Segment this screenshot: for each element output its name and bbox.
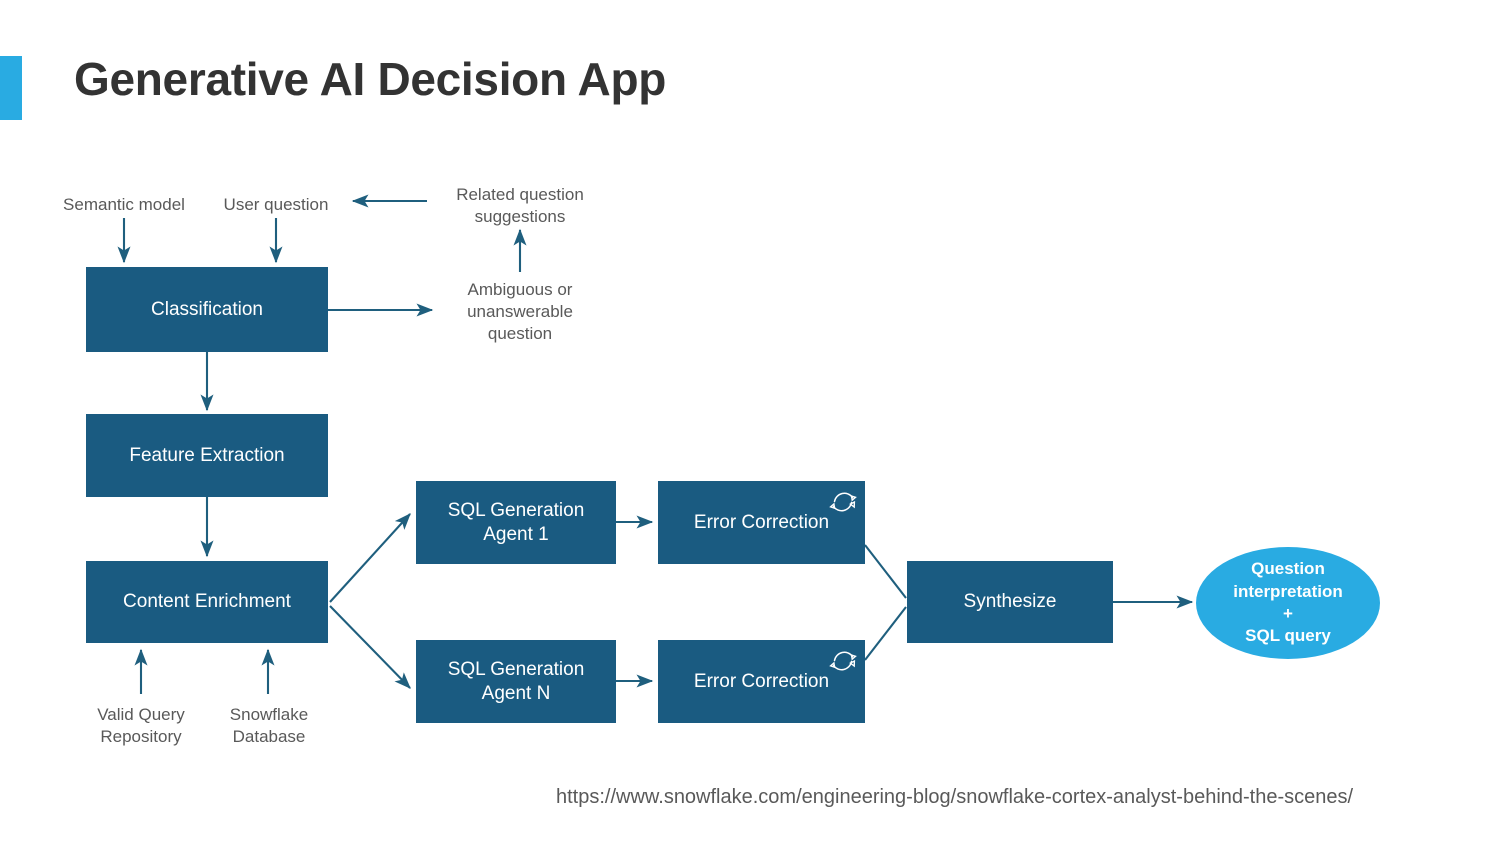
node-error-correction-2[interactable]: Error Correction [658, 640, 865, 723]
node-error-correction-2-label: Error Correction [694, 670, 829, 694]
node-classification-label: Classification [151, 298, 263, 322]
node-error-correction-1[interactable]: Error Correction [658, 481, 865, 564]
node-content-enrichment[interactable]: Content Enrichment [86, 561, 328, 643]
node-output-result-label: Question interpretation + SQL query [1233, 558, 1343, 648]
node-classification[interactable]: Classification [86, 267, 328, 352]
node-content-enrichment-label: Content Enrichment [123, 590, 291, 614]
node-feature-extraction-label: Feature Extraction [129, 444, 284, 468]
node-output-result[interactable]: Question interpretation + SQL query [1196, 547, 1380, 659]
annotation-ambiguous-question: Ambiguous or unanswerable question [448, 279, 592, 345]
annotation-snowflake-database: Snowflake Database [200, 704, 338, 748]
node-synthesize[interactable]: Synthesize [907, 561, 1113, 643]
node-error-correction-1-label: Error Correction [694, 511, 829, 535]
annotation-semantic-model: Semantic model [54, 194, 194, 216]
node-sql-generation-agent-1-label: SQL Generation Agent 1 [448, 499, 585, 547]
node-feature-extraction[interactable]: Feature Extraction [86, 414, 328, 497]
node-sql-generation-agent-n[interactable]: SQL Generation Agent N [416, 640, 616, 723]
annotation-user-question: User question [208, 194, 344, 216]
source-url[interactable]: https://www.snowflake.com/engineering-bl… [556, 786, 1353, 809]
refresh-loop-icon [825, 485, 861, 519]
node-sql-generation-agent-n-label: SQL Generation Agent N [448, 658, 585, 706]
node-sql-generation-agent-1[interactable]: SQL Generation Agent 1 [416, 481, 616, 564]
node-synthesize-label: Synthesize [964, 590, 1057, 614]
architecture-diagram: Semantic model User question Related que… [0, 0, 1500, 844]
annotation-valid-query-repository: Valid Query Repository [72, 704, 210, 748]
annotation-related-question-suggestions: Related question suggestions [446, 184, 594, 228]
refresh-loop-icon [825, 644, 861, 678]
